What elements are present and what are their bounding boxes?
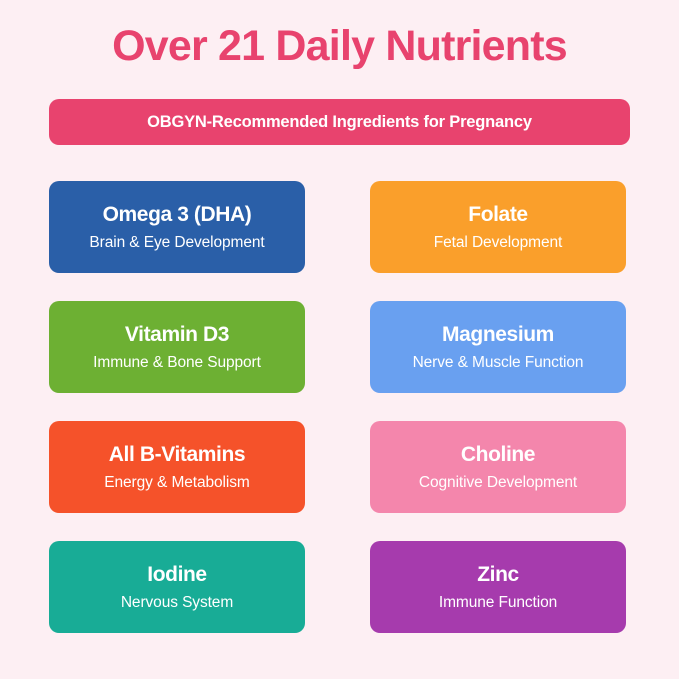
nutrient-card: Magnesium Nerve & Muscle Function [370,301,626,393]
nutrient-card-title: Zinc [477,562,519,587]
nutrient-card-benefit: Immune & Bone Support [93,354,261,373]
page-title: Over 21 Daily Nutrients [0,22,679,70]
nutrient-card-title: Vitamin D3 [125,322,229,347]
nutrient-card-benefit: Cognitive Development [419,474,577,493]
nutrient-card-grid: Omega 3 (DHA) Brain & Eye Development Fo… [49,181,626,633]
nutrient-card: Folate Fetal Development [370,181,626,273]
nutrient-card-benefit: Energy & Metabolism [104,474,249,493]
nutrient-card-benefit: Fetal Development [434,234,562,253]
nutrient-card-title: Choline [461,442,535,467]
nutrient-card-title: Iodine [147,562,206,587]
nutrient-card: Vitamin D3 Immune & Bone Support [49,301,305,393]
recommendation-banner-label: OBGYN-Recommended Ingredients for Pregna… [147,113,532,132]
nutrient-card-title: Omega 3 (DHA) [103,202,252,227]
nutrient-card-title: All B-Vitamins [109,442,245,467]
nutrient-card: Choline Cognitive Development [370,421,626,513]
infographic-page: Over 21 Daily Nutrients OBGYN-Recommende… [0,0,679,679]
nutrient-card-benefit: Immune Function [439,594,557,613]
nutrient-card-benefit: Nervous System [121,594,233,613]
nutrient-card-benefit: Brain & Eye Development [89,234,264,253]
nutrient-card-title: Magnesium [442,322,554,347]
nutrient-card-benefit: Nerve & Muscle Function [413,354,584,373]
nutrient-card: All B-Vitamins Energy & Metabolism [49,421,305,513]
recommendation-banner: OBGYN-Recommended Ingredients for Pregna… [49,99,630,145]
nutrient-card: Omega 3 (DHA) Brain & Eye Development [49,181,305,273]
nutrient-card: Zinc Immune Function [370,541,626,633]
nutrient-card-title: Folate [468,202,527,227]
nutrient-card: Iodine Nervous System [49,541,305,633]
